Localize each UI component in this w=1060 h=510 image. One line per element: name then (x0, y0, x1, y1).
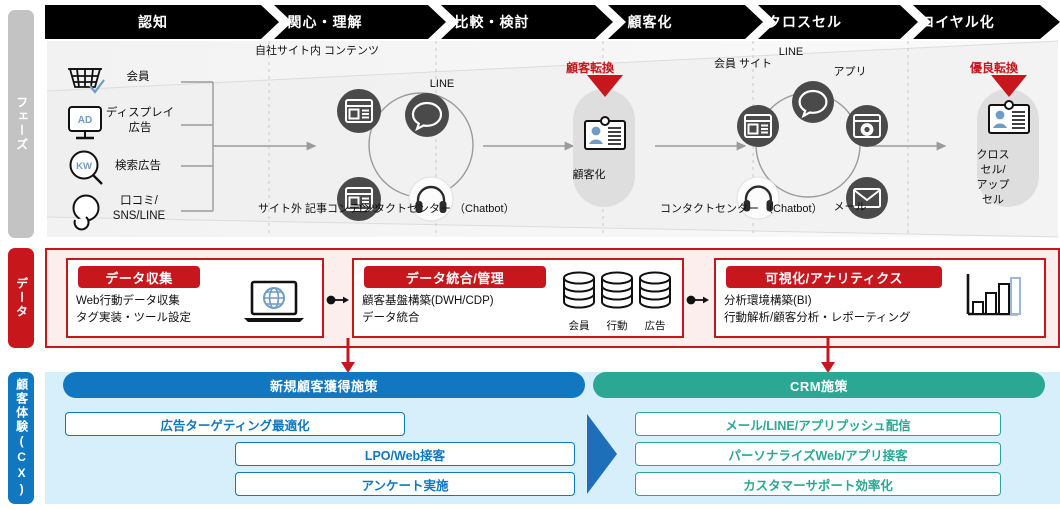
cx-header-acquisition: 新規顧客獲得施策 (63, 372, 585, 398)
conversion-label-1: 優良転換 (944, 59, 1044, 76)
rail-data: データ (8, 248, 34, 348)
cx-item-left-2[interactable]: アンケート実施 (235, 472, 575, 496)
bar-chart-icon (962, 272, 1022, 325)
conversion-label-0: 顧客転換 (540, 59, 640, 76)
phase-header-bar (45, 5, 1060, 39)
cylinder-caption-1: 行動 (600, 318, 634, 333)
data-box-integration-body: 顧客基盤構築(DWH/CDP) データ統合 (362, 293, 582, 326)
cx-header-crm-label: CRM施策 (790, 376, 848, 395)
data-box-integration-tag: データ統合/管理 (364, 266, 546, 288)
cx-item-left-0[interactable]: 広告ターゲティング最適化 (65, 412, 405, 436)
database-cylinders-icon (560, 270, 676, 321)
source-label-2: 検索広告 (96, 159, 180, 174)
cx-band: 新規顧客獲得施策 CRM施策 広告ターゲティング最適化 LPO/Web接客 アン… (45, 372, 1060, 504)
svg-text:KW: KW (76, 161, 92, 172)
laptop-globe-icon (238, 278, 310, 331)
rail-cx: 顧客体験(CX) (8, 372, 34, 504)
data-box-collection-tag: データ収集 (78, 266, 200, 288)
cx-header-acquisition-label: 新規顧客獲得施策 (270, 376, 378, 395)
cx-item-right-0[interactable]: メール/LINE/アプリプッシュ配信 (635, 412, 1001, 436)
cx-flow-arrow (583, 412, 623, 501)
svg-text:AD: AD (78, 115, 92, 126)
data-box-analytics-tag: 可視化/アナリティクス (726, 266, 942, 288)
cx-header-crm: CRM施策 (593, 372, 1045, 398)
touchpoint-label-line-right: LINE (765, 46, 817, 60)
source-label-3: 口コミ/ SNS/LINE (88, 194, 190, 224)
data-box-collection-body: Web行動データ収集 タグ実装・ツール設定 (76, 293, 256, 326)
touchpoint-label-site-content: 自社サイト内 コンテンツ (255, 45, 375, 59)
source-label-1: ディスプレイ 広告 (94, 106, 186, 136)
data-connector-1 (326, 293, 350, 311)
journey-diagram: フェーズ データ 顧客体験(CX) 認知 関心・理解 比較・検討 顧客化 クロス… (0, 0, 1060, 510)
touchpoint-label-line-left: LINE (412, 78, 472, 92)
data-connector-2 (686, 293, 710, 311)
cylinder-caption-0: 会員 (562, 318, 596, 333)
cx-item-left-1[interactable]: LPO/Web接客 (235, 442, 575, 466)
cylinder-caption-2: 広告 (638, 318, 672, 333)
stage-pill-label-1: クロス セル/ アップ セル (962, 148, 1024, 207)
cx-item-right-1[interactable]: パーソナライズWeb/アプリ接客 (635, 442, 1001, 466)
rail-data-label: データ (14, 277, 27, 319)
touchpoint-label-mail: メール (820, 201, 880, 215)
stage-pill-label-0: 顧客化 (558, 168, 620, 183)
touchpoint-label-app: アプリ (824, 66, 876, 80)
touchpoint-label-contact-right: コンタクトセンター （Chatbot） (660, 203, 820, 217)
rail-phase: フェーズ (8, 10, 34, 238)
cx-item-right-2[interactable]: カスタマーサポート効率化 (635, 472, 1001, 496)
rail-phase-label: フェーズ (14, 96, 27, 152)
source-label-0: 会員 (100, 70, 176, 85)
touchpoint-label-member-site: 会員 サイト (712, 58, 774, 72)
data-box-analytics-body: 分析環境構築(BI) 行動解析/顧客分析・レポーティング (724, 293, 980, 326)
rail-cx-label: 顧客体験(CX) (14, 378, 27, 498)
touchpoint-label-contact-left: コンタクトセンター （Chatbot） (352, 203, 512, 217)
